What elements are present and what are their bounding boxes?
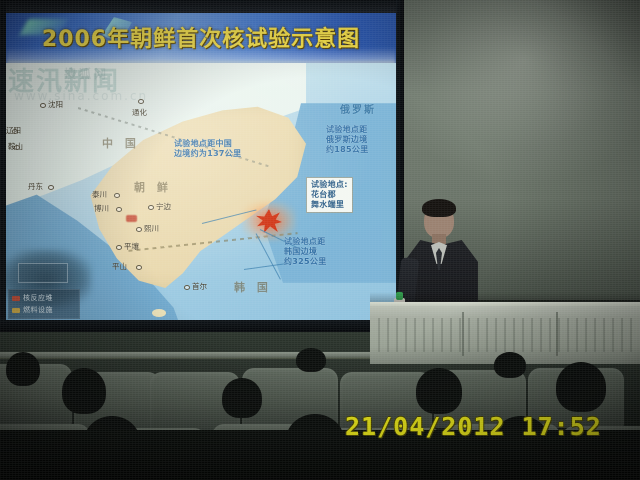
city-label-pyongyang: 平壤 <box>124 241 139 252</box>
city-dot-icon <box>138 99 144 104</box>
camera-timestamp: 21/04/2012 17:52 <box>345 412 602 441</box>
screenshot-root: 2006年朝鲜首次核试验示意图 速汛新闻 搜狐网 www.sina.com.cn… <box>0 0 640 480</box>
city-dot-icon <box>136 227 142 232</box>
city-dot-icon <box>116 245 122 250</box>
annotation-korea-distance: 试验地点距 韩国边境 约325公里 <box>284 237 327 267</box>
reactor-marker-icon <box>126 215 137 222</box>
map-legend: 核反应堆 燃料设施 <box>8 289 80 319</box>
legend-row: 核反应堆 <box>12 292 76 304</box>
podium-seam <box>462 312 464 356</box>
audience-head <box>6 352 40 386</box>
glare-rectangle <box>18 263 68 283</box>
projection-screen: 2006年朝鲜首次核试验示意图 速汛新闻 搜狐网 www.sina.com.cn… <box>0 0 404 332</box>
landmass-island <box>152 309 166 317</box>
country-label-south-korea: 韩 国 <box>234 279 272 295</box>
map-area: 速汛新闻 搜狐网 www.sina.com.cn 中 国 朝 鲜 韩 国 俄罗斯… <box>6 63 396 320</box>
city-label-shenyang: 沈阳 <box>48 99 63 110</box>
city-label-pingshan: 平山 <box>112 261 127 272</box>
nuclear-test-blast-icon <box>242 201 296 241</box>
annotation-china-distance: 试验地点距中国 边境约为137公里 <box>174 139 241 159</box>
city-label-bochuan: 博川 <box>94 203 109 214</box>
city-label-liaoyang: 辽阳 <box>6 125 21 136</box>
audience-head <box>494 352 526 378</box>
annotation-russia-distance: 试验地点距 俄罗斯边境 约185公里 <box>326 125 369 155</box>
city-dot-icon <box>40 103 46 108</box>
city-label-dandong: 丹东 <box>28 181 43 192</box>
city-label-ningbian: 宁边 <box>156 201 171 212</box>
city-dot-icon <box>136 265 142 270</box>
city-dot-icon <box>48 185 54 190</box>
legend-row: 燃料设施 <box>12 304 76 316</box>
audience-head <box>62 368 106 414</box>
city-dot-icon <box>116 207 122 212</box>
audience-head <box>556 362 606 412</box>
screen-top-edge <box>0 0 404 14</box>
legend-label-fuel: 燃料设施 <box>23 305 53 315</box>
city-label-anshan: 鞍山 <box>8 141 23 152</box>
chalk-rail <box>0 352 404 359</box>
reactor-swatch-icon <box>12 296 20 301</box>
city-label-xichuan: 熙川 <box>144 223 159 234</box>
city-dot-icon <box>148 205 154 210</box>
city-label-taichuan: 泰川 <box>92 189 107 200</box>
legend-label-reactor: 核反应堆 <box>23 293 53 303</box>
watermark-tag: 搜狐网 <box>64 65 294 82</box>
slide-title: 2006年朝鲜首次核试验示意图 <box>6 21 396 53</box>
screen-bottom-edge <box>0 318 404 332</box>
projected-slide: 2006年朝鲜首次核试验示意图 速汛新闻 搜狐网 www.sina.com.cn… <box>6 13 396 320</box>
presenter-hair <box>422 199 456 217</box>
audience-head <box>222 378 262 418</box>
podium-slats <box>378 318 632 352</box>
country-label-north-korea: 朝 鲜 <box>134 179 172 195</box>
test-site-callout-box: 试验地点: 花台郡 舞水端里 <box>306 177 353 213</box>
city-label-seoul: 首尔 <box>192 281 207 292</box>
audience-head <box>296 348 326 372</box>
watermark-url: www.sina.com.cn <box>14 89 148 103</box>
city-label-tonghua: 通化 <box>132 107 147 118</box>
city-dot-icon <box>114 193 120 198</box>
country-label-china: 中 国 <box>102 135 140 151</box>
country-label-russia: 俄罗斯 <box>340 101 376 116</box>
city-dot-icon <box>184 285 190 290</box>
audience-head <box>416 368 462 414</box>
fuel-swatch-icon <box>12 308 20 313</box>
podium-seam <box>556 312 558 356</box>
